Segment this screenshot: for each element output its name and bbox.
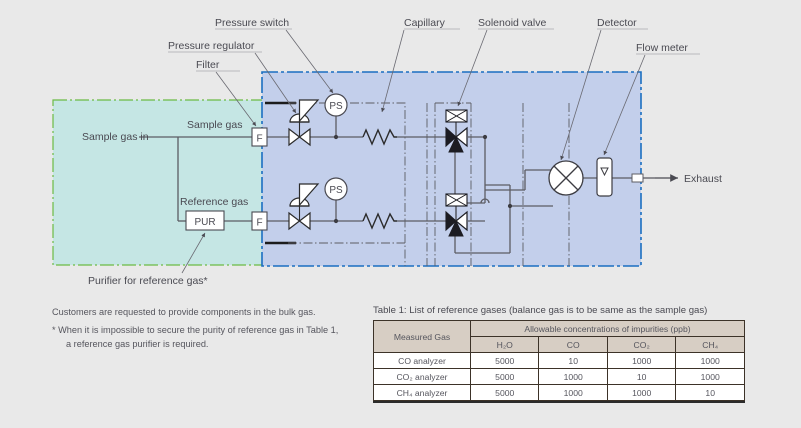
pressure-switch-reference: PS: [325, 178, 347, 200]
table-cell-gas-0: CO analyzer: [374, 353, 471, 369]
notes-block: Customers are requested to provide compo…: [52, 306, 362, 351]
purifier-box: PUR: [186, 211, 224, 230]
label-pressure-switch: Pressure switch: [215, 17, 289, 29]
table-cell-0-2: 1000: [607, 353, 675, 369]
table-cell-2-3: 10: [676, 385, 745, 401]
label-purifier-note: Purifier for reference gas*: [88, 275, 208, 287]
table-header-col-1: CO: [539, 337, 607, 353]
filter-sample: F: [252, 128, 267, 146]
table-header-measured-gas: Measured Gas: [374, 321, 471, 353]
note-line-2-cont: a reference gas purifier is required.: [59, 338, 362, 351]
table-header-col-2: CO₂: [607, 337, 675, 353]
filter-reference: F: [252, 212, 267, 230]
table-body: CO analyzer 5000 10 1000 1000 CO₂ analyz…: [374, 353, 745, 401]
table-cell-gas-1: CO₂ analyzer: [374, 369, 471, 385]
label-filter: Filter: [196, 59, 220, 71]
table-cell-0-0: 5000: [471, 353, 539, 369]
label-flow-meter: Flow meter: [636, 42, 688, 54]
reference-gas-table: Measured Gas Allowable concentrations of…: [373, 320, 745, 401]
table-cell-2-1: 1000: [539, 385, 607, 401]
detector-symbol: [549, 161, 583, 195]
reference-gas-table-block: Table 1: List of reference gases (balanc…: [373, 305, 745, 403]
pressure-switch-sample-tag: PS: [329, 101, 343, 112]
flow-meter-symbol: [597, 158, 612, 196]
label-capillary: Capillary: [404, 17, 446, 29]
table-row: CO analyzer 5000 10 1000 1000: [374, 353, 745, 369]
label-sample-gas: Sample gas: [187, 119, 242, 131]
flow-diagram: F F PUR: [0, 0, 801, 300]
table-cell-1-0: 5000: [471, 369, 539, 385]
label-pressure-regulator: Pressure regulator: [168, 40, 255, 52]
note-line-2: * When it is impossible to secure the pu…: [52, 324, 362, 351]
filter-sample-label: F: [256, 134, 262, 145]
label-reference-gas: Reference gas: [180, 196, 248, 208]
analyzer-enclosure: [262, 72, 641, 266]
pressure-switch-reference-tag: PS: [329, 185, 343, 196]
table-cell-2-0: 5000: [471, 385, 539, 401]
exhaust-port: [632, 174, 643, 182]
table-header-col-3: CH₄: [676, 337, 745, 353]
label-sample-gas-in: Sample gas in: [82, 131, 149, 143]
pressure-switch-sample: PS: [325, 94, 347, 116]
label-detector: Detector: [597, 17, 637, 29]
diagram-page: F F PUR: [0, 0, 801, 428]
label-exhaust: Exhaust: [684, 173, 722, 185]
table-head-row-1: Measured Gas Allowable concentrations of…: [374, 321, 745, 337]
table-row: CO₂ analyzer 5000 1000 10 1000: [374, 369, 745, 385]
table-cell-1-1: 1000: [539, 369, 607, 385]
table-head: Measured Gas Allowable concentrations of…: [374, 321, 745, 353]
filter-reference-label: F: [256, 218, 262, 229]
table-cell-0-3: 1000: [676, 353, 745, 369]
table-cell-2-2: 1000: [607, 385, 675, 401]
note-line-1: Customers are requested to provide compo…: [52, 306, 362, 319]
table-header-col-0: H₂O: [471, 337, 539, 353]
label-solenoid-valve: Solenoid valve: [478, 17, 546, 29]
table-caption: Table 1: List of reference gases (balanc…: [373, 305, 745, 316]
table-cell-1-2: 10: [607, 369, 675, 385]
table-cell-0-1: 10: [539, 353, 607, 369]
purifier-box-label: PUR: [194, 217, 215, 228]
note-line-2-text: * When it is impossible to secure the pu…: [52, 325, 338, 335]
table-cell-1-3: 1000: [676, 369, 745, 385]
table-bottom-rule: [373, 401, 745, 403]
table-row: CH₄ analyzer 5000 1000 1000 10: [374, 385, 745, 401]
table-cell-gas-2: CH₄ analyzer: [374, 385, 471, 401]
table-header-group: Allowable concentrations of impurities (…: [471, 321, 745, 337]
